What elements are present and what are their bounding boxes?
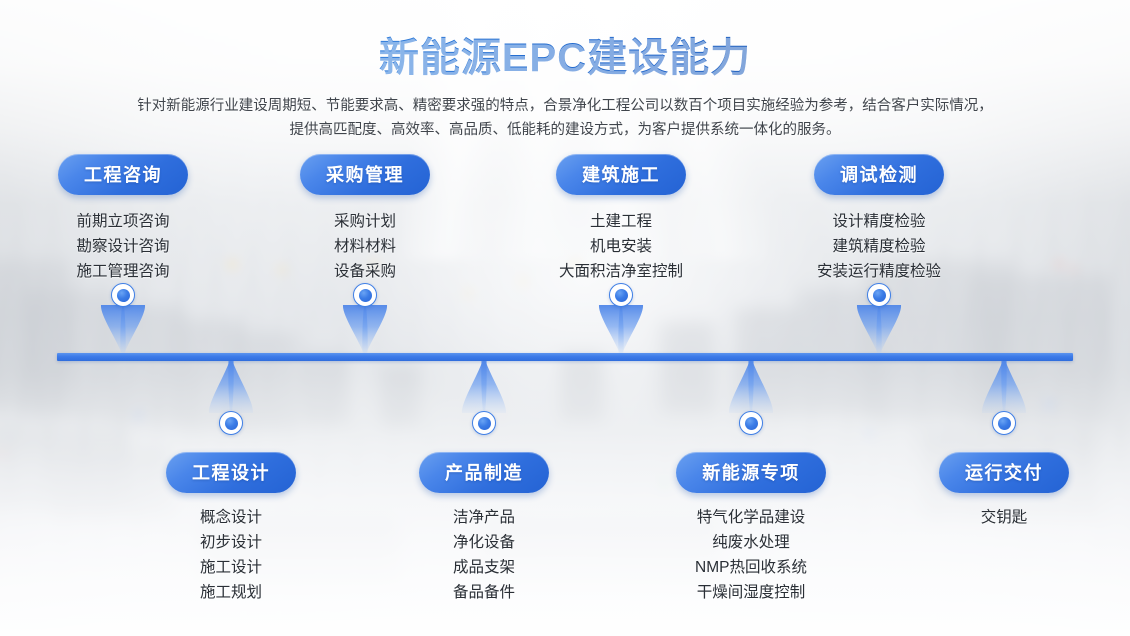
connector-top-2 (342, 305, 388, 353)
stage-item: NMP热回收系统 (591, 555, 911, 580)
timeline-node-top-3[interactable] (609, 283, 633, 307)
stage-pill-label[interactable]: 工程咨询 (58, 154, 188, 195)
subtitle-line-2: 提供高匹配度、高效率、高品质、低能耗的建设方式，为客户提供系统一体化的服务。 (77, 118, 1053, 142)
stage-item: 安装运行精度检验 (719, 259, 1039, 284)
page-subtitle: 针对新能源行业建设周期短、节能要求高、精密要求强的特点，合景净化工程公司以数百个… (77, 94, 1053, 142)
stage-item-list: 设计精度检验建筑精度检验安装运行精度检验 (719, 209, 1039, 284)
connector-top-3 (598, 305, 644, 353)
stage-item-list: 交钥匙 (844, 505, 1130, 530)
timeline-node-bottom-1[interactable] (219, 411, 243, 435)
stage-pill-label[interactable]: 建筑施工 (556, 154, 686, 195)
stage-item: 干燥间湿度控制 (591, 580, 911, 605)
connector-bottom-3 (728, 361, 774, 413)
stage-pill-label[interactable]: 产品制造 (419, 452, 549, 493)
stage-pill-label[interactable]: 新能源专项 (676, 452, 826, 493)
stage-item: 纯废水处理 (591, 530, 911, 555)
timeline-node-top-1[interactable] (111, 283, 135, 307)
stage-card-bottom-4[interactable]: 运行交付 交钥匙 (844, 452, 1130, 530)
stage-pill-label[interactable]: 运行交付 (939, 452, 1069, 493)
connector-bottom-2 (461, 361, 507, 413)
header: 新能源EPC建设能力 针对新能源行业建设周期短、节能要求高、精密要求强的特点，合… (0, 0, 1130, 142)
timeline-node-bottom-2[interactable] (472, 411, 496, 435)
stage-pill-label[interactable]: 工程设计 (166, 452, 296, 493)
connector-bottom-4 (981, 361, 1027, 413)
timeline-node-bottom-4[interactable] (992, 411, 1016, 435)
connector-top-4 (856, 305, 902, 353)
page-title: 新能源EPC建设能力 (0, 0, 1130, 80)
timeline-node-bottom-3[interactable] (739, 411, 763, 435)
stage-item: 设计精度检验 (719, 209, 1039, 234)
infographic-stage: 新能源EPC建设能力 针对新能源行业建设周期短、节能要求高、精密要求强的特点，合… (0, 0, 1130, 636)
stage-pill-label[interactable]: 采购管理 (300, 154, 430, 195)
timeline-node-top-4[interactable] (867, 283, 891, 307)
connector-bottom-1 (208, 361, 254, 413)
stage-item: 建筑精度检验 (719, 234, 1039, 259)
process-timeline-bar (57, 353, 1073, 361)
stage-pill-label[interactable]: 调试检测 (814, 154, 944, 195)
stage-card-top-4[interactable]: 调试检测 设计精度检验建筑精度检验安装运行精度检验 (719, 154, 1039, 284)
timeline-node-top-2[interactable] (353, 283, 377, 307)
subtitle-line-1: 针对新能源行业建设周期短、节能要求高、精密要求强的特点，合景净化工程公司以数百个… (77, 94, 1053, 118)
stage-item: 交钥匙 (844, 505, 1130, 530)
connector-top-1 (100, 305, 146, 353)
